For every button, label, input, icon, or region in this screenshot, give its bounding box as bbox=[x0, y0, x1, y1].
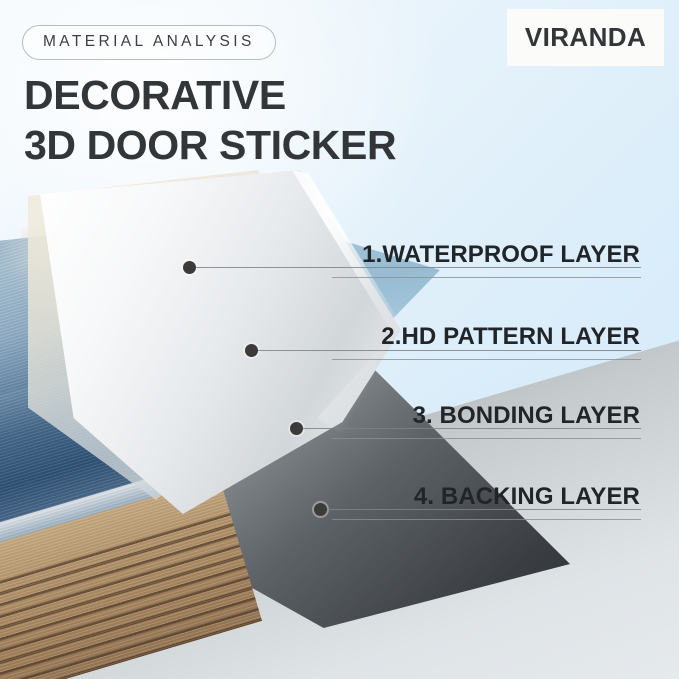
callout-underline-4 bbox=[332, 519, 641, 520]
page-title: DECORATIVE 3D DOOR STICKER bbox=[24, 70, 396, 171]
callout-dot-2 bbox=[245, 344, 258, 357]
callout-dot-3 bbox=[290, 422, 303, 435]
callout-label-1: 1.WATERPROOF LAYER bbox=[362, 241, 640, 269]
callout-underline-1 bbox=[332, 277, 641, 278]
callout-underline-2 bbox=[332, 359, 641, 360]
headline-line-2: 3D DOOR STICKER bbox=[24, 120, 396, 170]
material-analysis-badge: MATERIAL ANALYSIS bbox=[22, 25, 276, 60]
callout-label-2: 2.HD PATTERN LAYER bbox=[381, 323, 640, 351]
brand-logo: VIRANDA bbox=[507, 9, 664, 66]
callout-underline-3 bbox=[332, 438, 641, 439]
brand-logo-text: VIRANDA bbox=[525, 22, 646, 53]
callout-dot-1 bbox=[183, 261, 196, 274]
callout-label-4: 4. BACKING LAYER bbox=[414, 483, 640, 511]
headline-line-1: DECORATIVE bbox=[24, 72, 286, 118]
callout-label-3: 3. BONDING LAYER bbox=[413, 402, 640, 430]
product-infographic: MATERIAL ANALYSIS DECORATIVE 3D DOOR STI… bbox=[0, 0, 679, 679]
callout-dot-4 bbox=[314, 503, 327, 516]
